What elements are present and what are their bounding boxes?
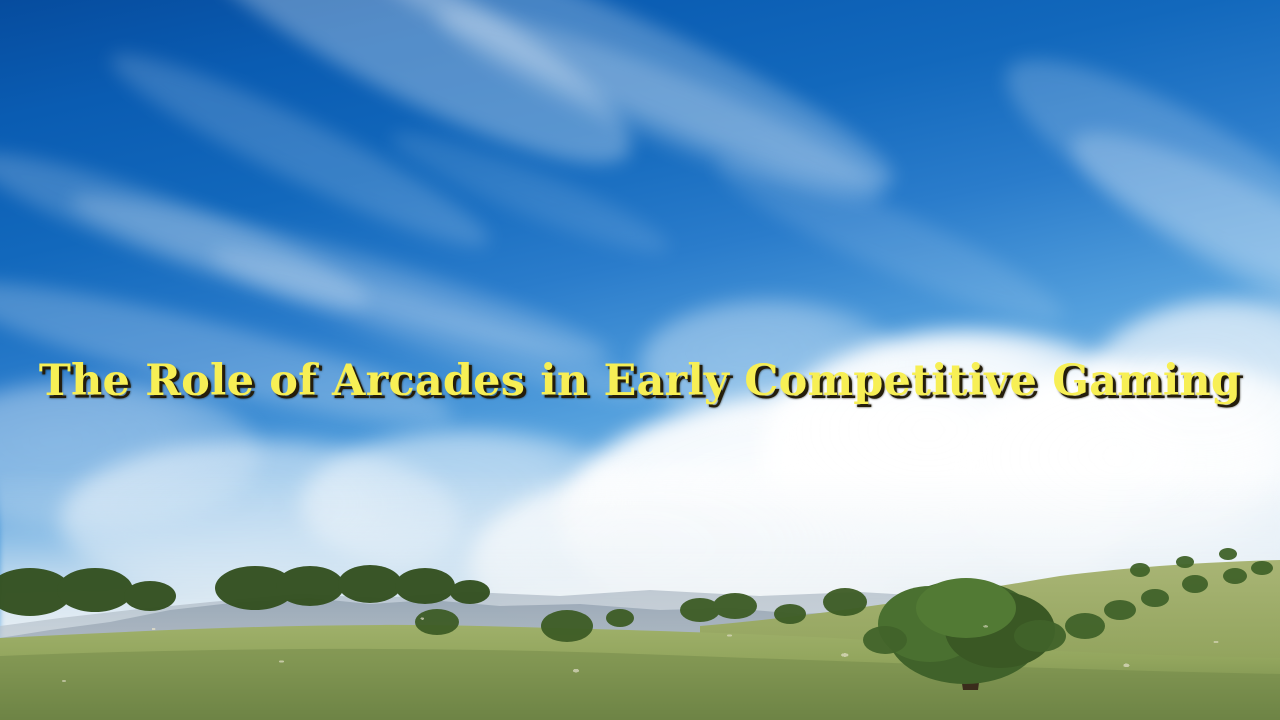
tree [1130,563,1150,577]
tree [774,604,806,624]
tree [1176,556,1194,568]
tree-cluster-left [0,565,490,616]
tree [1014,620,1066,652]
tree [680,598,720,622]
tree [713,593,757,619]
tree [124,581,176,611]
tree-canopy [916,578,1016,638]
tree [1182,575,1208,593]
tree [823,588,867,616]
tree [276,566,344,606]
tree [1251,561,1273,575]
tree [415,609,459,635]
tree [1104,600,1136,620]
tree [1223,568,1247,584]
tree [395,568,455,604]
article-header-banner: The Role of Arcades in Early Competitive… [0,0,1280,720]
tree [863,626,907,654]
tree [1219,548,1237,560]
tree-layer [0,540,1280,720]
tree [450,580,490,604]
tree [606,609,634,627]
tree [338,565,402,603]
tree [1141,589,1169,607]
page-title: The Role of Arcades in Early Competitive… [39,359,1241,404]
tree [1065,613,1105,639]
tree [57,568,133,612]
tree [541,610,593,642]
